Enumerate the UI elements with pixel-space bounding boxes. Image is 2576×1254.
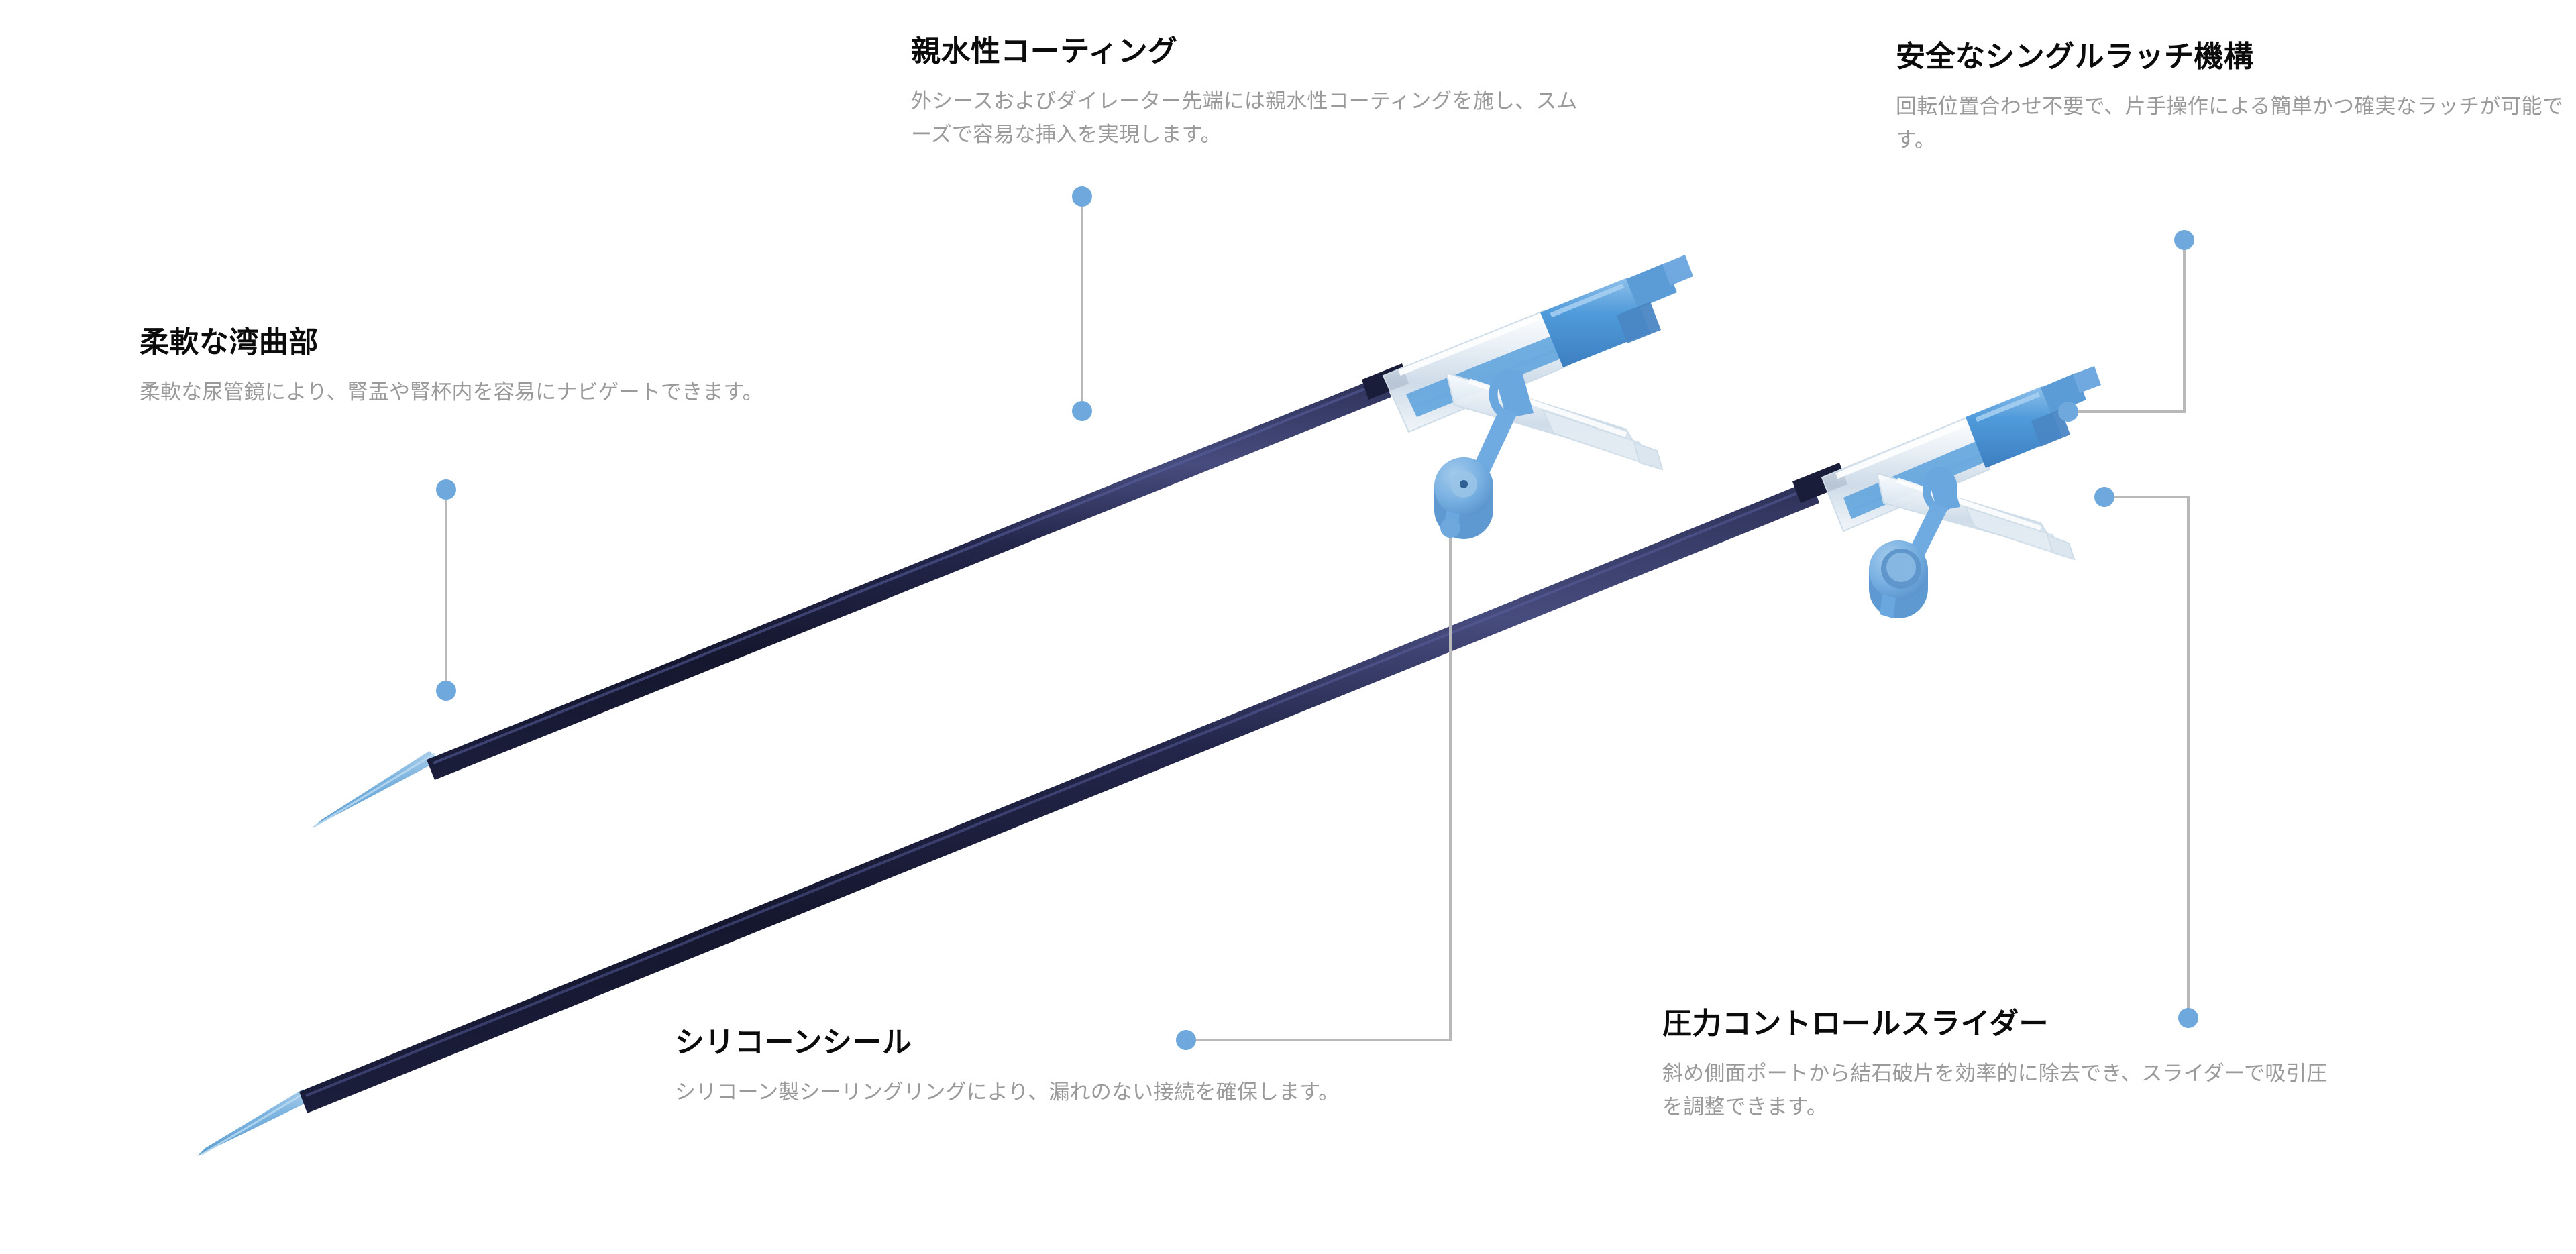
annotation-flexible-bend: 柔軟な湾曲部 柔軟な尿管鏡により、腎盂や腎杯内を容易にナビゲートできます。 [140, 325, 817, 409]
infographic-canvas: 柔軟な湾曲部 柔軟な尿管鏡により、腎盂や腎杯内を容易にナビゲートできます。 親水… [0, 0, 2576, 1254]
annotation-silicone-seal: シリコーンシール シリコーン製シーリングリングにより、漏れのない接続を確保します… [675, 1025, 1346, 1109]
leader-dot-pressure-slider-end [2094, 487, 2114, 507]
leader-dot-hydrophilic-end [1072, 401, 1092, 421]
annotation-single-latch: 安全なシングルラッチ機構 回転位置合わせ不要で、片手操作による簡単かつ確実なラッ… [1896, 39, 2567, 157]
leader-dot-flexible-bend-top [436, 479, 456, 500]
leader-dot-flexible-bend-end [436, 681, 456, 701]
annotation-title-silicone-seal: シリコーンシール [675, 1025, 1346, 1061]
annotation-body-flexible-bend: 柔軟な尿管鏡により、腎盂や腎杯内を容易にナビゲートできます。 [140, 376, 817, 409]
leader-line-silicone-seal [1186, 528, 1450, 1040]
annotation-hydrophilic-coating: 親水性コーティング 外シースおよびダイレーター先端には親水性コーティングを施し、… [911, 34, 1589, 152]
annotation-title-flexible-bend: 柔軟な湾曲部 [140, 325, 817, 361]
leader-dot-single-latch-top [2174, 230, 2194, 250]
annotation-body-silicone-seal: シリコーン製シーリングリングにより、漏れのない接続を確保します。 [675, 1076, 1346, 1109]
leader-line-pressure-slider [2104, 497, 2188, 1018]
leader-dot-hydrophilic-top [1072, 186, 1092, 207]
annotation-title-pressure-control-slider: 圧力コントロールスライダー [1662, 1006, 2340, 1042]
annotation-body-single-latch: 回転位置合わせ不要で、片手操作による簡単かつ確実なラッチが可能です。 [1896, 90, 2567, 157]
annotation-pressure-control-slider: 圧力コントロールスライダー 斜め側面ポートから結石破片を効率的に除去でき、スライ… [1662, 1006, 2340, 1124]
annotation-title-hydrophilic-coating: 親水性コーティング [911, 34, 1589, 70]
leader-dot-silicone-seal-end [1440, 518, 1460, 538]
leader-line-single-latch [2068, 240, 2184, 412]
annotation-body-hydrophilic-coating: 外シースおよびダイレーター先端には親水性コーティングを施し、スムーズで容易な挿入… [911, 84, 1589, 152]
leader-dot-single-latch-end [2058, 402, 2078, 422]
annotation-title-single-latch: 安全なシングルラッチ機構 [1896, 39, 2567, 75]
annotation-body-pressure-control-slider: 斜め側面ポートから結石破片を効率的に除去でき、スライダーで吸引圧を調整できます。 [1662, 1057, 2340, 1124]
